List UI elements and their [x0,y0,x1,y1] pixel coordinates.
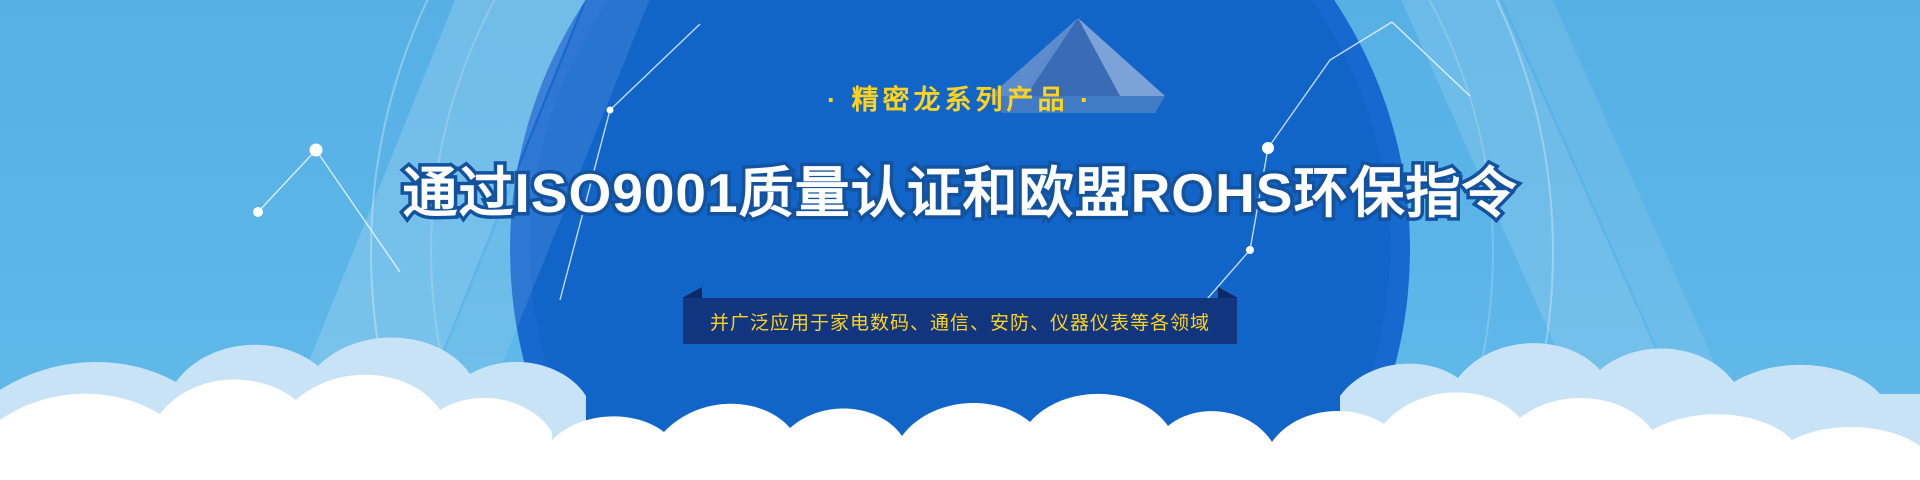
banner-headline: 通过ISO9001质量认证和欧盟ROHS环保指令 [0,148,1920,228]
banner-subtitle: 并广泛应用于家电数码、通信、安防、仪器仪表等各领域 [710,308,1210,335]
ribbon-fold-right-icon [1218,287,1238,298]
ribbon-fold-left-icon [682,287,702,298]
banner-eyebrow: · 精密龙系列产品 · [0,78,1920,117]
promo-banner: · 精密龙系列产品 · 通过ISO9001质量认证和欧盟ROHS环保指令 并广泛… [0,0,1920,480]
banner-subtitle-ribbon: 并广泛应用于家电数码、通信、安防、仪器仪表等各领域 [683,298,1237,344]
banner-subtitle-ribbon-wrap: 并广泛应用于家电数码、通信、安防、仪器仪表等各领域 [0,298,1920,344]
banner-content: · 精密龙系列产品 · 通过ISO9001质量认证和欧盟ROHS环保指令 并广泛… [0,0,1920,480]
